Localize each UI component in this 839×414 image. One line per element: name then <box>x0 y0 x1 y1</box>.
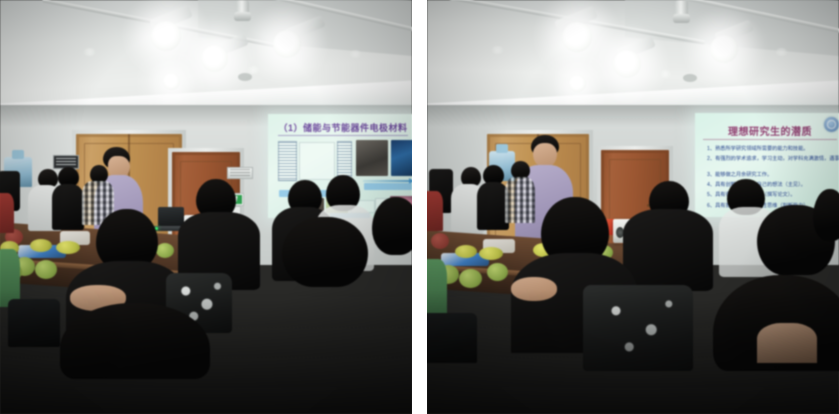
double-door-pale-right[interactable] <box>487 134 589 256</box>
fruit-green-r3 <box>487 263 508 281</box>
fruit-green-3 <box>2 263 22 281</box>
slide-ideal-grad-student: 理想研究生的潜质 1、熟悉所学研究领域所需要的能力和技能。 2、有强烈的学术追求… <box>695 113 839 217</box>
single-door-dark-right[interactable] <box>601 150 669 258</box>
room-left: （1）储能与节能器件电极材料 <box>0 0 412 414</box>
slide-bullet-3: 3、能够做之月余研究工作。 <box>707 171 839 178</box>
slide-photo-sample <box>326 198 348 213</box>
photo-pair-figure: （1）储能与节能器件电极材料 <box>0 0 839 414</box>
bottom-shadow-right <box>427 290 839 414</box>
ceiling-lamp-4 <box>163 73 180 90</box>
figure-gutter <box>412 0 427 414</box>
room-info-plate <box>227 167 253 179</box>
double-door-pale[interactable] <box>76 134 182 254</box>
ceiling-pipe-cap-right <box>673 14 690 23</box>
ceiling-pipe-cap <box>234 12 251 21</box>
slide-photo-sem <box>298 198 324 214</box>
fruit-green-r2 <box>459 269 482 288</box>
slide-photo-laser <box>390 196 412 215</box>
wall-plaque <box>53 155 79 169</box>
projection-screen-left: （1）储能与节能器件电极材料 <box>268 114 412 218</box>
slide-figure-grid <box>278 141 297 181</box>
ceiling-lamp-r4 <box>569 75 586 92</box>
slide-photo-lab <box>356 140 388 176</box>
slide-title-right: 理想研究生的潜质 <box>695 123 839 138</box>
recessed-downlight-r3 <box>775 48 788 56</box>
ceiling-lamp-r2 <box>613 50 641 78</box>
ceiling-lamp-2 <box>201 45 228 72</box>
bottom-shadow <box>0 290 412 414</box>
slide-bullet-4: 4、具有创新精神，有自己的想法（主见）。 <box>707 181 839 188</box>
projection-screen-right: 理想研究生的潜质 1、熟悉所学研究领域所需要的能力和技能。 2、有强烈的学术追求… <box>695 113 839 217</box>
door-seam <box>128 134 130 254</box>
laser-spot <box>402 204 406 208</box>
door-knob[interactable] <box>216 204 219 207</box>
slide-bullet-1: 1、熟悉所学研究领域所需要的能力和技能。 <box>707 145 839 152</box>
slide-plot <box>351 200 375 213</box>
wall-socket[interactable] <box>229 206 241 220</box>
ceiling-lamp-3 <box>273 30 301 58</box>
recessed-downlight-1 <box>83 48 96 56</box>
slide-title-rule-right <box>703 139 837 140</box>
ceiling-vent <box>238 73 252 81</box>
slide-arrow-right <box>363 180 412 182</box>
slide-bullet-2: 2、有强烈的学术追求，学习主动，对学科充满激情，遇事百折不挠，不仅仅是为了获得学… <box>707 155 839 162</box>
slide-title-rule <box>278 135 408 136</box>
slide-photo-blue <box>391 140 412 176</box>
slide-figure-schematic <box>299 142 335 180</box>
door-panel-dark-right <box>609 159 661 249</box>
door-knob-right[interactable] <box>647 204 650 207</box>
door-seam-right <box>537 134 539 256</box>
room-right: 理想研究生的潜质 1、熟悉所学研究领域所需要的能力和技能。 2、有强烈的学术追求… <box>427 0 839 414</box>
fruit-green-r1 <box>437 265 459 284</box>
recessed-downlight-r2 <box>659 70 672 78</box>
recessed-downlight-r1 <box>491 46 504 54</box>
ceiling-lamp-r3 <box>710 35 738 63</box>
slide-figure-stack <box>337 141 352 181</box>
photo-left: （1）储能与节能器件电极材料 <box>0 0 412 414</box>
ceiling-vent-right <box>683 74 697 82</box>
slide-label-bar-1 <box>364 183 412 190</box>
slide-energy-materials: （1）储能与节能器件电极材料 <box>268 114 412 218</box>
slide-device <box>375 198 391 213</box>
slide-bullet-5: 5、具有很好的写作能力（撰写论文）。 <box>707 191 839 198</box>
table-edge-right <box>427 264 623 283</box>
exit-sign-right <box>661 196 676 209</box>
slide-title: （1）储能与节能器件电极材料 <box>268 121 412 134</box>
recessed-downlight-3 <box>349 50 362 58</box>
slide-label-bar-2 <box>279 190 333 197</box>
door-panel-dark <box>180 161 232 247</box>
slide-bullet-6: 6、具有批判精神和批判性思维（判断能力）。 <box>707 202 839 209</box>
exit-sign <box>229 193 244 206</box>
slide-label-bar-3 <box>330 213 370 218</box>
photo-right: 理想研究生的潜质 1、熟悉所学研究领域所需要的能力和技能。 2、有强烈的学术追求… <box>427 0 839 414</box>
